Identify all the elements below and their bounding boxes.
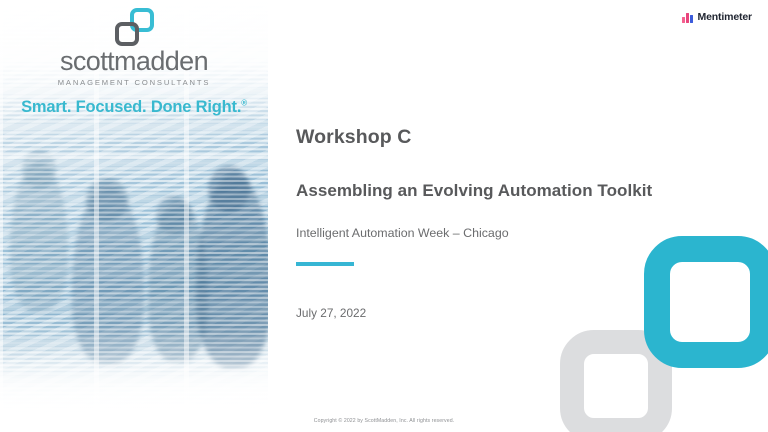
presentation-date: July 27, 2022 [296, 266, 726, 320]
brand-wordmark: scottmadden [0, 48, 268, 75]
page-subtitle: Assembling an Evolving Automation Toolki… [296, 149, 726, 201]
left-image-panel: scottmadden MANAGEMENT CONSULTANTS Smart… [0, 0, 268, 432]
mentimeter-bar-3 [690, 15, 693, 23]
registered-trademark-icon: ® [241, 99, 247, 108]
page-title: Workshop C [296, 126, 726, 149]
mentimeter-badge: Mentimeter [682, 12, 752, 23]
copyright-footer: Copyright © 2022 by ScottMadden, Inc. Al… [0, 418, 768, 424]
scottmadden-logo-lockup: scottmadden MANAGEMENT CONSULTANTS Smart… [0, 8, 268, 117]
mentimeter-bar-2 [686, 13, 689, 23]
mentimeter-bars-icon [682, 12, 693, 23]
brand-subtitle: MANAGEMENT CONSULTANTS [0, 78, 268, 87]
right-content-panel: Workshop C Assembling an Evolving Automa… [268, 0, 768, 432]
event-name: Intelligent Automation Week – Chicago [296, 201, 726, 240]
mentimeter-wordmark: Mentimeter [697, 12, 752, 23]
logo-square-gray-icon [115, 22, 139, 46]
brand-tagline-text: Smart. Focused. Done Right. [21, 98, 241, 116]
mentimeter-bar-1 [682, 17, 685, 23]
brand-tagline: Smart. Focused. Done Right.® [0, 98, 268, 117]
slide-canvas: scottmadden MANAGEMENT CONSULTANTS Smart… [0, 0, 768, 432]
title-block: Workshop C Assembling an Evolving Automa… [296, 126, 726, 320]
scottmadden-overlapping-squares-icon [114, 8, 154, 46]
